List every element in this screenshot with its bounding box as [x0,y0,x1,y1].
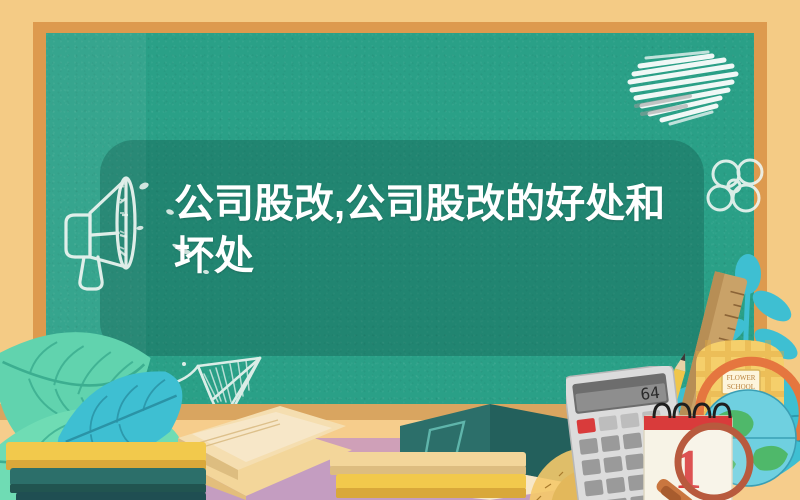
cover-image: 公司股改,公司股改的好处和坏处 [0,0,800,500]
magnifier [652,420,772,500]
page-title: 公司股改,公司股改的好处和坏处 [174,178,674,282]
book-stack [330,452,530,500]
book-stack [6,436,216,500]
